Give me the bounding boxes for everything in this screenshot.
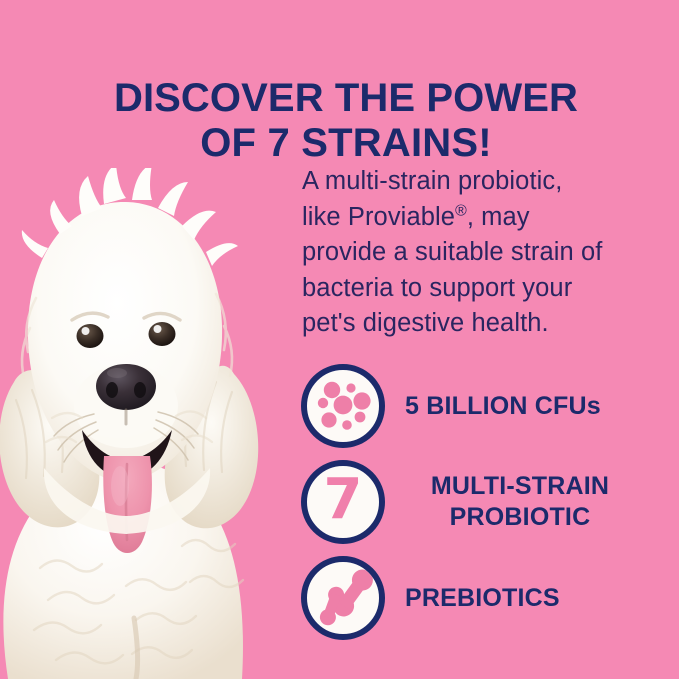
prebiotic-molecule-icon xyxy=(307,562,379,634)
bacteria-dots-icon xyxy=(307,370,379,442)
dog-photo xyxy=(0,168,296,679)
feature-item-cfus: 5 BILLION CFUs xyxy=(301,358,671,454)
feature-label-cfus: 5 BILLION CFUs xyxy=(405,391,601,422)
headline-line-2: OF 7 STRAINS! xyxy=(96,121,596,166)
body-copy-line-2-pre: like Proviable xyxy=(302,203,455,231)
feature-label-prebiotics-line-1: PREBIOTICS xyxy=(405,583,560,614)
body-copy-line-1: A multi-strain probiotic, xyxy=(302,164,632,200)
feature-list: 5 BILLION CFUs 7 MULTI-STRAIN PROBIOTIC xyxy=(301,358,671,646)
feature-item-prebiotics: PREBIOTICS xyxy=(301,550,671,646)
feature-label-multistrain-line-2: PROBIOTIC xyxy=(405,502,635,533)
body-copy-line-2: like Proviable®, may xyxy=(302,200,632,236)
feature-item-multistrain: 7 MULTI-STRAIN PROBIOTIC xyxy=(301,454,671,550)
registered-trademark-symbol: ® xyxy=(455,202,467,219)
promotional-banner: DISCOVER THE POWER OF 7 STRAINS! A multi… xyxy=(0,0,679,679)
feature-label-multistrain-line-1: MULTI-STRAIN xyxy=(405,471,635,502)
feature-label-multistrain: MULTI-STRAIN PROBIOTIC xyxy=(405,471,635,533)
feature-badge-cfus xyxy=(301,364,385,448)
body-copy-line-4: bacteria to support your xyxy=(302,271,632,307)
body-copy: A multi-strain probiotic, like Proviable… xyxy=(302,164,632,342)
page-title: DISCOVER THE POWER OF 7 STRAINS! xyxy=(96,76,596,166)
feature-label-prebiotics: PREBIOTICS xyxy=(405,583,560,614)
body-copy-line-2-post: , may xyxy=(467,203,530,231)
number-seven-icon: 7 xyxy=(324,472,363,528)
body-copy-line-3: provide a suitable strain of xyxy=(302,235,632,271)
feature-label-cfus-line-1: 5 BILLION CFUs xyxy=(405,391,601,422)
feature-badge-prebiotics xyxy=(301,556,385,640)
body-copy-line-5: pet's digestive health. xyxy=(302,306,632,342)
feature-badge-multistrain: 7 xyxy=(301,460,385,544)
headline-line-1: DISCOVER THE POWER xyxy=(96,76,596,121)
